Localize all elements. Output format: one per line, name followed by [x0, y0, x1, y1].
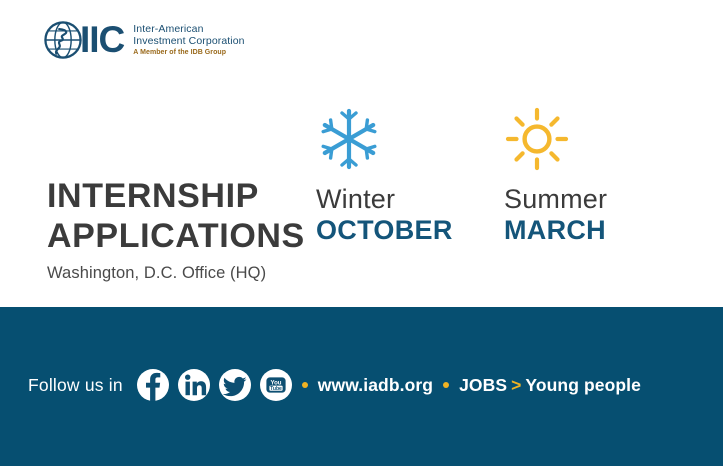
poster-canvas: IIC Inter-American Investment Corporatio…: [0, 0, 723, 466]
season-month-summer: MARCH: [504, 215, 607, 247]
logo-wordmark: Inter-American Investment Corporation A …: [133, 23, 244, 57]
globe-icon: [44, 21, 82, 59]
season-name-winter: Winter: [316, 184, 453, 215]
headline-line-1: INTERNSHIP: [47, 176, 305, 216]
jobs-target-label[interactable]: Young people: [525, 375, 641, 396]
linkedin-icon[interactable]: [178, 369, 210, 401]
footer-content: Follow us in: [28, 369, 641, 401]
logo-name-line2: Investment Corporation: [133, 35, 244, 47]
page-title: INTERNSHIP APPLICATIONS Washington, D.C.…: [47, 176, 305, 283]
season-block-summer: Summer MARCH: [504, 106, 607, 247]
follow-us-label: Follow us in: [28, 375, 123, 396]
logo-acronym: IIC: [80, 21, 124, 59]
bullet-separator-2: [443, 382, 449, 388]
social-links: You Tube: [137, 369, 292, 401]
logo-name-line1: Inter-American: [133, 23, 244, 35]
svg-text:Tube: Tube: [270, 386, 282, 392]
headline-line-2: APPLICATIONS: [47, 216, 305, 256]
season-month-winter: OCTOBER: [316, 215, 453, 247]
footer-bar: Follow us in: [0, 307, 723, 466]
iic-logo[interactable]: IIC Inter-American Investment Corporatio…: [44, 21, 245, 59]
twitter-icon[interactable]: [219, 369, 251, 401]
chevron-right-icon: >: [511, 375, 521, 396]
logo-tagline: A Member of the IDB Group: [133, 49, 244, 57]
sun-icon: [504, 106, 607, 176]
youtube-icon[interactable]: You Tube: [260, 369, 292, 401]
jobs-label[interactable]: JOBS: [459, 375, 507, 396]
website-link[interactable]: www.iadb.org: [318, 375, 433, 396]
snowflake-icon: [316, 106, 453, 176]
facebook-icon[interactable]: [137, 369, 169, 401]
headline-subtitle: Washington, D.C. Office (HQ): [47, 264, 305, 283]
bullet-separator-1: [302, 382, 308, 388]
season-name-summer: Summer: [504, 184, 607, 215]
season-block-winter: Winter OCTOBER: [316, 106, 453, 247]
jobs-breadcrumb[interactable]: JOBS > Young people: [459, 375, 641, 396]
